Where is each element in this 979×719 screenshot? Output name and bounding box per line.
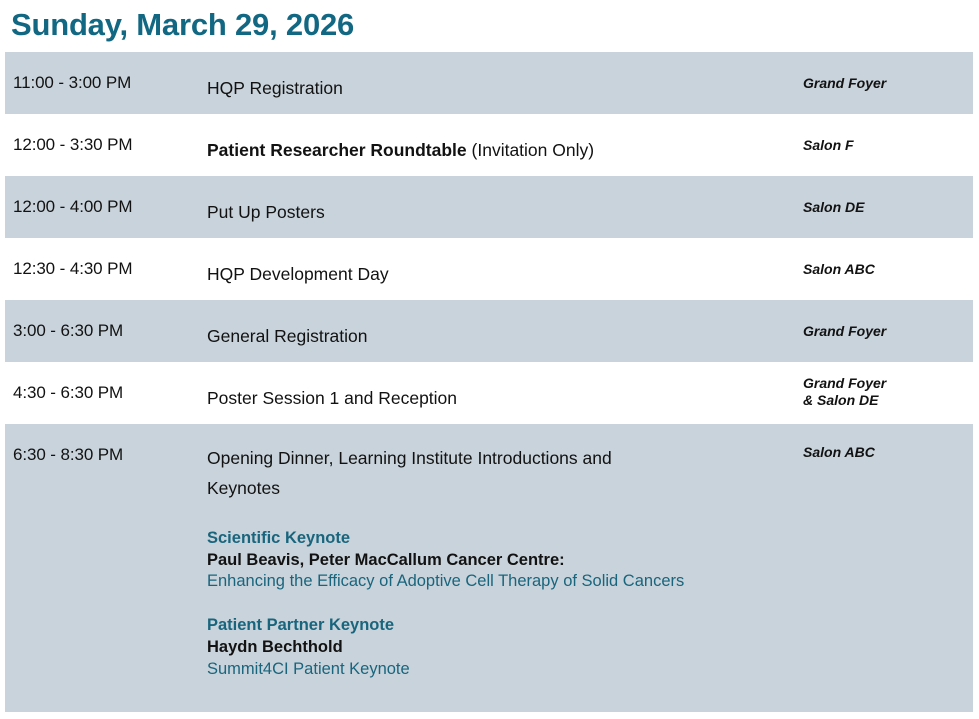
- keynote-scientific: Scientific Keynote Paul Beavis, Peter Ma…: [207, 528, 791, 593]
- row-event: HQP Development Day: [207, 238, 803, 300]
- table-row: 12:00 - 4:00 PM Put Up Posters Salon DE: [5, 176, 973, 238]
- row-location: Grand Foyer & Salon DE: [803, 362, 973, 424]
- row-event-note: (Invitation Only): [467, 140, 594, 160]
- table-row: 11:00 - 3:00 PM HQP Registration Grand F…: [5, 52, 973, 114]
- row-location: Salon DE: [803, 176, 973, 238]
- row-event-title: Poster Session 1 and Reception: [207, 388, 457, 408]
- table-row-keynotes: 6:30 - 8:30 PM Opening Dinner, Learning …: [5, 424, 973, 712]
- keynote-topic: Enhancing the Efficacy of Adoptive Cell …: [207, 571, 791, 593]
- row-event-title: HQP Registration: [207, 78, 343, 98]
- row-time: 3:00 - 6:30 PM: [5, 300, 207, 362]
- row-time: 12:30 - 4:30 PM: [5, 238, 207, 300]
- keynote-person: Paul Beavis, Peter MacCallum Cancer Cent…: [207, 550, 791, 572]
- keynote-label: Patient Partner Keynote: [207, 615, 791, 637]
- row-time: 12:00 - 3:30 PM: [5, 114, 207, 176]
- row-event-title: Patient Researcher Roundtable: [207, 140, 467, 160]
- row-event: General Registration: [207, 300, 803, 362]
- row-event-title: Put Up Posters: [207, 202, 325, 222]
- row-location: Salon F: [803, 114, 973, 176]
- row-event: Poster Session 1 and Reception: [207, 362, 803, 424]
- row-location: Salon ABC: [803, 238, 973, 300]
- row-location: Grand Foyer: [803, 52, 973, 114]
- row-time: 4:30 - 6:30 PM: [5, 362, 207, 424]
- keynote-topic: Summit4CI Patient Keynote: [207, 659, 791, 681]
- row-event: HQP Registration: [207, 52, 803, 114]
- row-location: Salon ABC: [803, 424, 973, 704]
- row-event-title: HQP Development Day: [207, 264, 389, 284]
- row-event: Put Up Posters: [207, 176, 803, 238]
- table-row: 4:30 - 6:30 PM Poster Session 1 and Rece…: [5, 362, 973, 424]
- row-time: 6:30 - 8:30 PM: [5, 424, 207, 704]
- page-title: Sunday, March 29, 2026: [5, 0, 973, 52]
- row-event-title: General Registration: [207, 326, 368, 346]
- keynote-label: Scientific Keynote: [207, 528, 791, 550]
- row-time: 12:00 - 4:00 PM: [5, 176, 207, 238]
- table-row: 12:00 - 3:30 PM Patient Researcher Round…: [5, 114, 973, 176]
- schedule-page: Sunday, March 29, 2026 11:00 - 3:00 PM H…: [0, 0, 979, 719]
- table-row: 3:00 - 6:30 PM General Registration Gran…: [5, 300, 973, 362]
- table-row: 12:30 - 4:30 PM HQP Development Day Salo…: [5, 238, 973, 300]
- keynote-patient-partner: Patient Partner Keynote Haydn Bechthold …: [207, 615, 791, 680]
- row-event-title: Opening Dinner, Learning Institute Intro…: [207, 443, 677, 504]
- row-event: Opening Dinner, Learning Institute Intro…: [207, 424, 803, 704]
- row-location: Grand Foyer: [803, 300, 973, 362]
- keynote-person: Haydn Bechthold: [207, 637, 791, 659]
- row-time: 11:00 - 3:00 PM: [5, 52, 207, 114]
- row-event: Patient Researcher Roundtable (Invitatio…: [207, 114, 803, 176]
- schedule-table: 11:00 - 3:00 PM HQP Registration Grand F…: [5, 52, 973, 712]
